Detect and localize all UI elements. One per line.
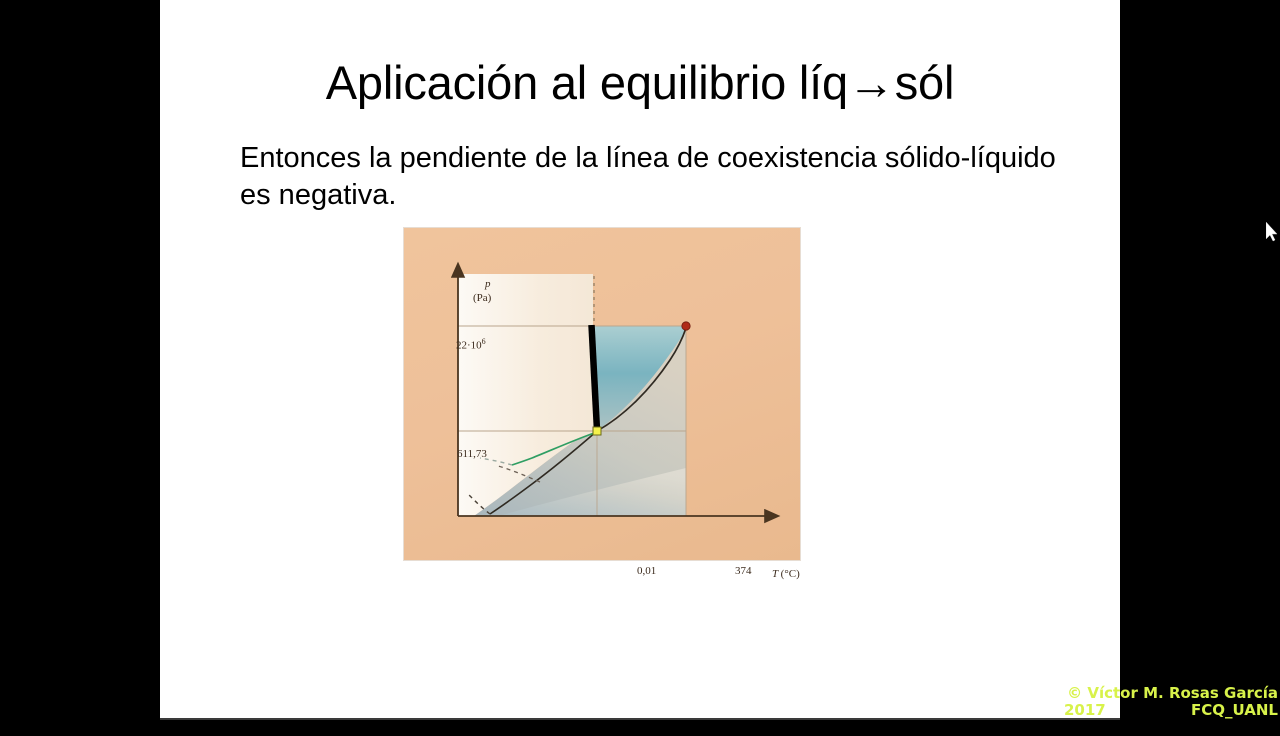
y-tick-label-critical: 22·106 [456,337,486,352]
water-phase-diagram-figure: p (Pa) 22·106 611,73 0,01 374 T (°C) [404,228,800,560]
phase-diagram-plot-area: p (Pa) 22·106 611,73 0,01 374 T (°C) [454,268,742,516]
copyright-footer: © Víctor M. Rosas García 2017FCQ_UANL [978,668,1278,736]
copyright-second-line: 2017FCQ_UANL [978,702,1278,719]
page-title: Aplicación al equilibrio líq→sól [160,56,1120,110]
x-axis-label: T (°C) [772,568,800,580]
y-axis-symbol-label: p [485,278,491,290]
y-tick-critical-exponent: 6 [482,337,486,346]
presentation-viewport: Aplicación al equilibrio líq→sól Entonce… [0,0,1280,720]
y-axis-unit-label: (Pa) [473,292,491,304]
x-axis-symbol: T [772,568,778,580]
y-tick-critical-mantissa: 22·10 [456,340,482,352]
x-tick-label-critical: 374 [735,565,752,577]
x-tick-label-triple: 0,01 [637,565,656,577]
critical-point-marker [682,322,690,330]
triple-point-marker [593,427,601,435]
copyright-line: © Víctor M. Rosas García [1067,684,1278,702]
copyright-affiliation: FCQ_UANL [1191,701,1278,719]
mouse-cursor-icon [1266,222,1278,242]
phase-diagram-svg [454,268,742,516]
slide-canvas: Aplicación al equilibrio líq→sól Entonce… [160,0,1120,718]
slide-body-text: Entonces la pendiente de la línea de coe… [240,140,1060,214]
y-tick-label-triple: 611,73 [457,448,487,460]
copyright-year: 2017 [978,702,1106,719]
x-axis-unit: (°C) [781,568,800,580]
